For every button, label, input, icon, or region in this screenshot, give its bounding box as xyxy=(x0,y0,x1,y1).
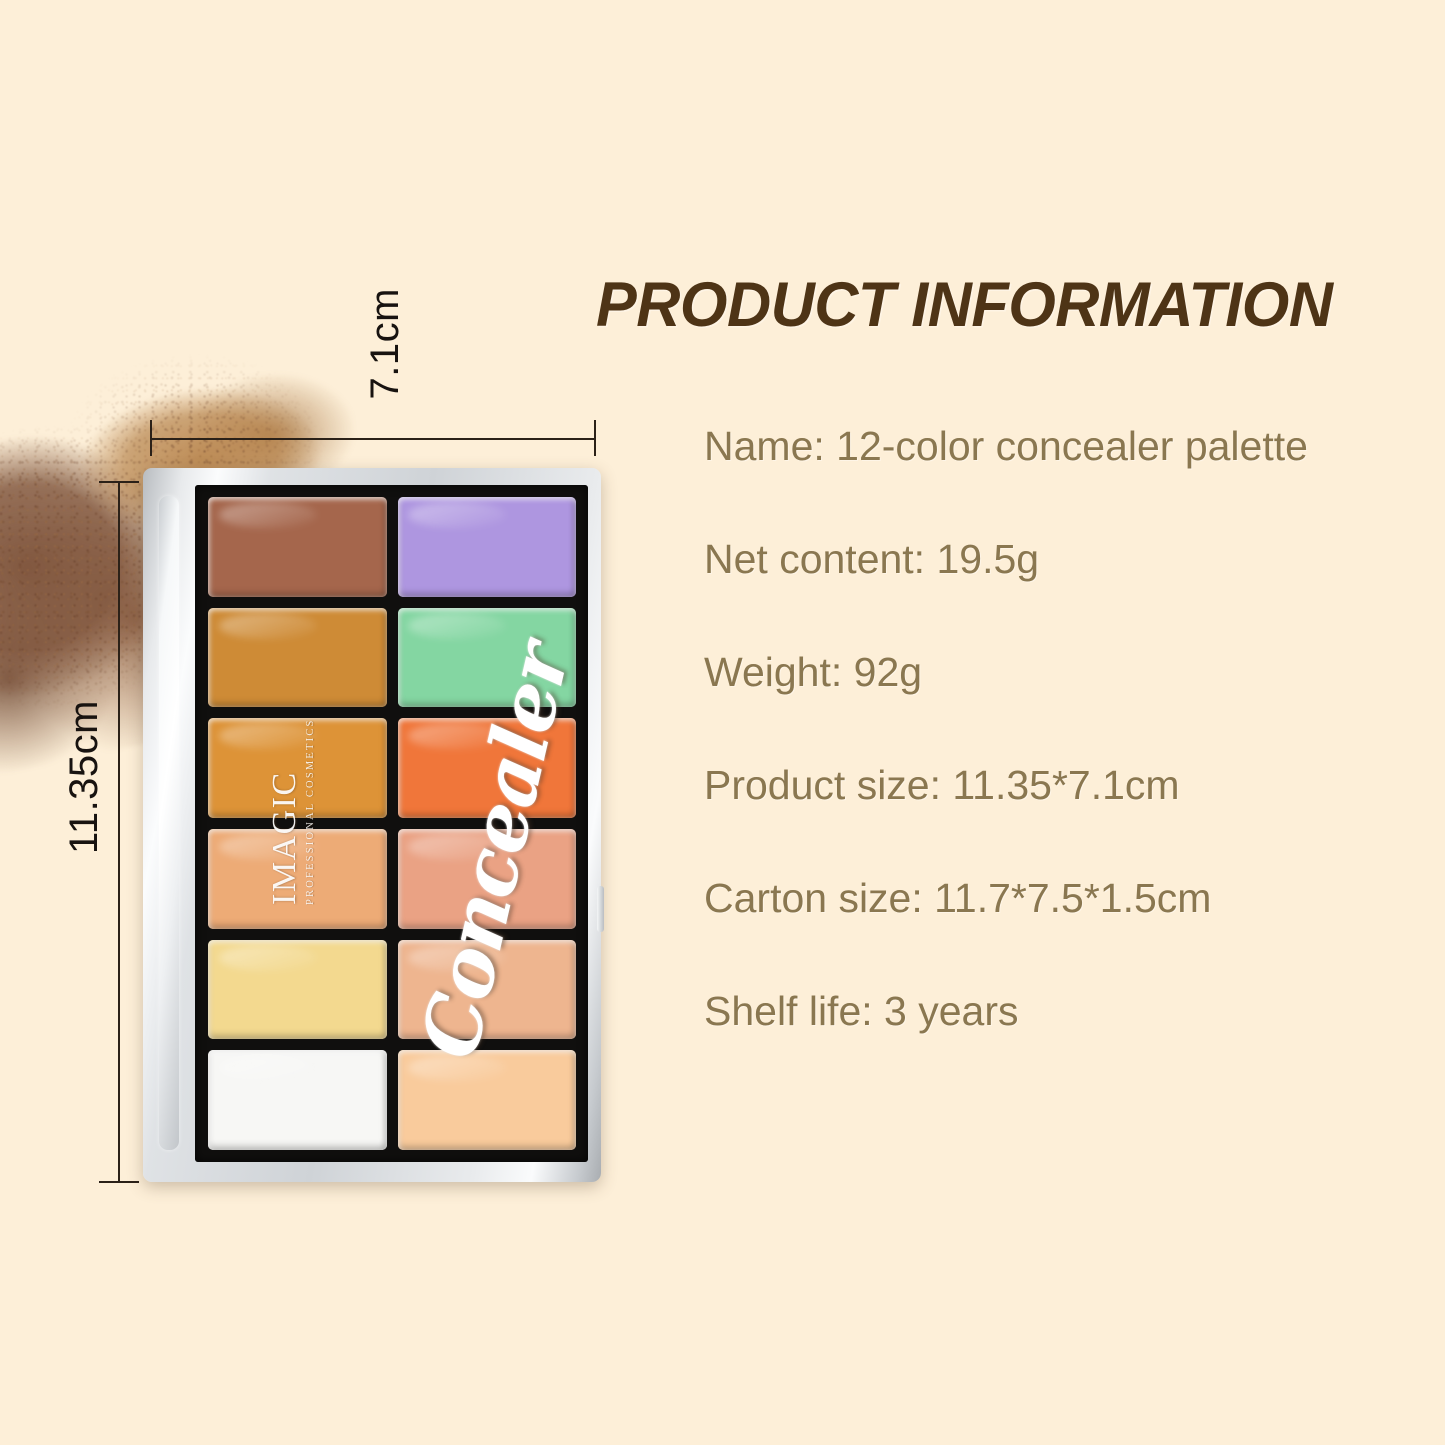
height-dimension-label: 11.35cm xyxy=(62,700,107,854)
height-dimension-line xyxy=(118,482,120,1182)
spec-item-name: Name: 12-color concealer palette xyxy=(704,426,1436,467)
pan-row1-left xyxy=(208,497,387,597)
pan-row6-left xyxy=(208,1050,387,1150)
pan-row2-right xyxy=(398,608,577,708)
pan-row3-left xyxy=(208,718,387,818)
pan-row6-right xyxy=(398,1050,577,1150)
width-dimension-label: 7.1cm xyxy=(363,288,408,399)
spec-item-product-size: Product size: 11.35*7.1cm xyxy=(704,765,1436,806)
height-dimension-tick-top xyxy=(99,481,139,483)
pan-row2-left xyxy=(208,608,387,708)
pan-row1-right xyxy=(398,497,577,597)
pan-row4-left xyxy=(208,829,387,929)
pan-row3-right xyxy=(398,718,577,818)
spec-item-shelf-life: Shelf life: 3 years xyxy=(704,991,1436,1032)
spec-item-weight: Weight: 92g xyxy=(704,652,1436,693)
specification-list: Name: 12-color concealer palette Net con… xyxy=(704,426,1436,1032)
concealer-palette-product xyxy=(143,468,601,1182)
height-dimension-tick-bottom xyxy=(99,1181,139,1183)
palette-mirror-strip xyxy=(159,496,179,1150)
page-title: PRODUCT INFORMATION xyxy=(596,272,1411,338)
pan-row5-left xyxy=(208,940,387,1040)
pan-row5-right xyxy=(398,940,577,1040)
product-information-panel: PRODUCT INFORMATION Name: 12-color conce… xyxy=(596,272,1436,1032)
spec-item-net-content: Net content: 19.5g xyxy=(704,539,1436,580)
pan-row4-right xyxy=(398,829,577,929)
width-dimension-tick-left xyxy=(150,420,152,456)
width-dimension-line xyxy=(150,438,596,440)
spec-item-carton-size: Carton size: 11.7*7.5*1.5cm xyxy=(704,878,1436,919)
pan-grid xyxy=(208,497,576,1150)
palette-inner-tray xyxy=(195,485,588,1162)
